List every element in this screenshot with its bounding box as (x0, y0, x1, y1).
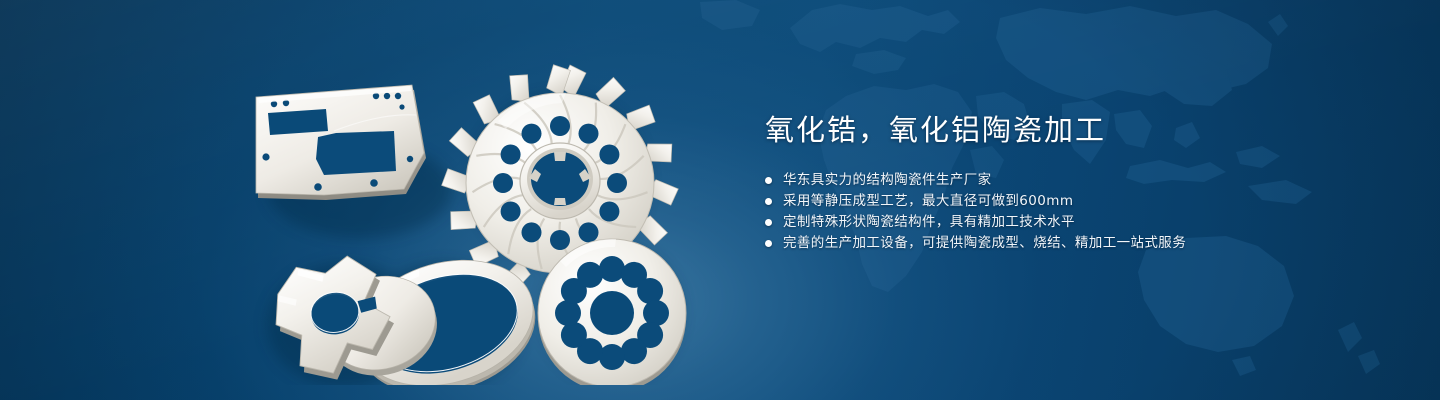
banner-copy: 氧化锆，氧化铝陶瓷加工 华东具实力的结构陶瓷件生产厂家 采用等静压成型工艺，最大… (765, 112, 1385, 254)
list-item: 完善的生产加工设备，可提供陶瓷成型、烧结、精加工一站式服务 (765, 233, 1385, 253)
list-item-label: 华东具实力的结构陶瓷件生产厂家 (783, 170, 992, 190)
bullet-dot-icon (765, 240, 772, 247)
ceramic-plate (256, 85, 426, 200)
page-title: 氧化锆，氧化铝陶瓷加工 (765, 112, 1385, 148)
list-item: 定制特殊形状陶瓷结构件，具有精加工技术水平 (765, 212, 1385, 232)
promo-banner: 氧化锆，氧化铝陶瓷加工 华东具实力的结构陶瓷件生产厂家 采用等静压成型工艺，最大… (0, 0, 1440, 400)
list-item-label: 采用等静压成型工艺，最大直径可做到600mm (783, 191, 1073, 211)
bullet-dot-icon (765, 177, 772, 184)
list-item: 采用等静压成型工艺，最大直径可做到600mm (765, 191, 1385, 211)
list-item: 华东具实力的结构陶瓷件生产厂家 (765, 170, 1385, 190)
product-image-group (230, 35, 720, 385)
bullet-dot-icon (765, 198, 772, 205)
bullet-dot-icon (765, 219, 772, 226)
feature-list: 华东具实力的结构陶瓷件生产厂家 采用等静压成型工艺，最大直径可做到600mm 定… (765, 170, 1385, 253)
list-item-label: 完善的生产加工设备，可提供陶瓷成型、烧结、精加工一站式服务 (783, 233, 1186, 253)
ceramic-perforated-disc (538, 239, 686, 385)
list-item-label: 定制特殊形状陶瓷结构件，具有精加工技术水平 (783, 212, 1075, 232)
